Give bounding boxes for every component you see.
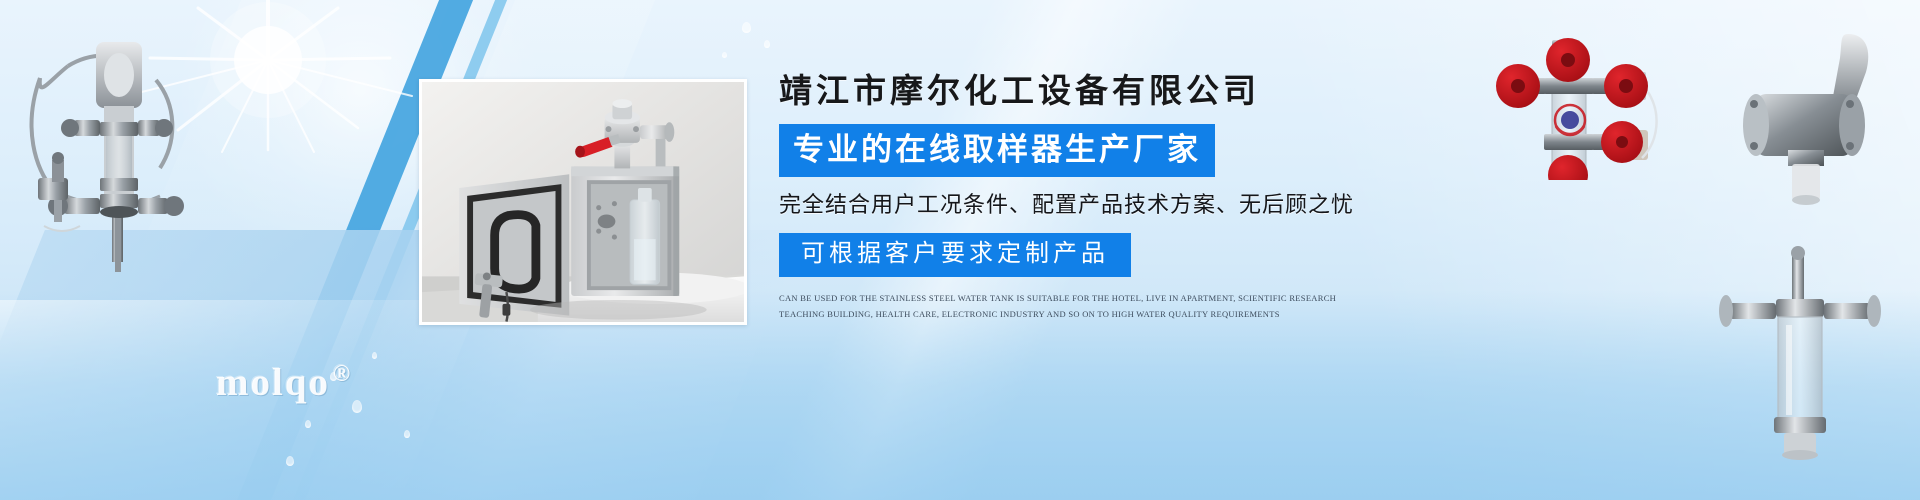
water-droplet — [764, 40, 770, 48]
lever-valve-illustration — [1720, 28, 1900, 208]
water-droplet — [305, 420, 311, 428]
company-name: 靖江市摩尔化工设备有限公司 — [779, 74, 1399, 112]
water-droplet — [352, 400, 362, 413]
sub-headline: 完全结合用户工况条件、配置产品技术方案、无后顾之忧 — [779, 191, 1399, 219]
banner-copy: 靖江市摩尔化工设备有限公司 专业的在线取样器生产厂家 完全结合用户工况条件、配置… — [779, 74, 1399, 323]
water-droplet — [742, 22, 751, 33]
water-droplet — [286, 456, 294, 466]
sight-glass-valve-illustration — [1700, 245, 1900, 460]
valve-manifold-illustration — [1480, 30, 1710, 180]
product-photo-card — [419, 79, 747, 325]
water-droplet — [722, 52, 727, 58]
promo-banner: 靖江市摩尔化工设备有限公司 专业的在线取样器生产厂家 完全结合用户工况条件、配置… — [0, 0, 1920, 500]
water-droplet — [404, 430, 410, 438]
custom-product-badge: 可根据客户要求定制产品 — [779, 233, 1131, 277]
water-droplet — [372, 352, 377, 359]
watermark-text: molqo — [216, 361, 330, 404]
brand-watermark: molqo® — [216, 360, 352, 405]
sampling-cabinet-photo — [422, 82, 744, 324]
tagline-badge: 专业的在线取样器生产厂家 — [779, 124, 1215, 177]
left-equipment-illustration — [8, 20, 208, 280]
fineprint-paragraph: CAN BE USED FOR THE STAINLESS STEEL WATE… — [779, 291, 1379, 322]
registered-trademark-icon: ® — [333, 361, 352, 386]
